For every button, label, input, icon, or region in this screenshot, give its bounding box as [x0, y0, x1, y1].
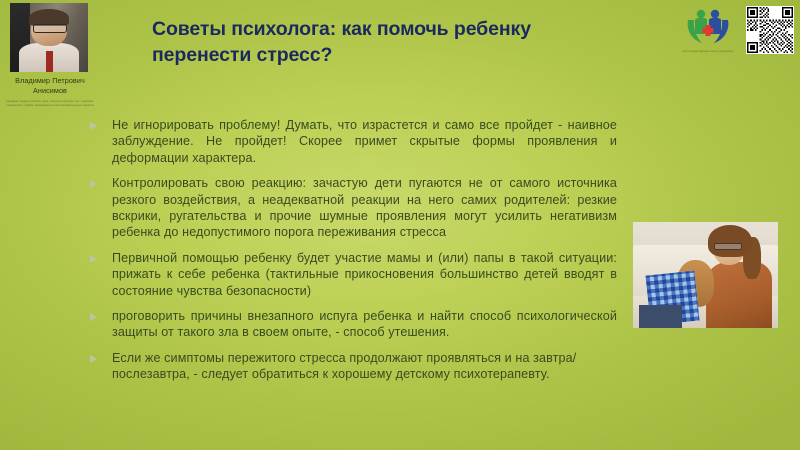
- triangle-bullet-icon: [90, 255, 97, 263]
- bullet-text: Не игнорировать проблему! Думать, что из…: [112, 117, 617, 166]
- mother-hugging-child-photo: [633, 222, 778, 328]
- logo-caption: Центр охраны здоровья семьи и репродукци…: [678, 50, 738, 53]
- photo-woman-glasses: [714, 243, 742, 250]
- list-item: Первичной помощью ребенку будет участие …: [90, 250, 617, 299]
- presenter-name: Владимир Петрович Анисимов: [0, 76, 100, 95]
- bullet-list: Не игнорировать проблему! Думать, что из…: [90, 117, 617, 392]
- list-item: Контролировать свою реакцию: зачастую де…: [90, 175, 617, 241]
- photo-woman-cardigan: [706, 262, 773, 328]
- triangle-bullet-icon: [90, 313, 97, 321]
- bullet-text: Контролировать свою реакцию: зачастую де…: [112, 175, 617, 241]
- organization-logo: Центр охраны здоровья семьи и репродукци…: [678, 4, 738, 66]
- list-item: проговорить причины внезапного испуга ре…: [90, 308, 617, 341]
- photo-glasses: [33, 24, 66, 33]
- bullet-text: Если же симптомы пережитого стресса прод…: [112, 350, 617, 383]
- photo-jeans: [639, 305, 683, 328]
- bullet-text: проговорить причины внезапного испуга ре…: [112, 308, 617, 341]
- hands-family-health-icon: [684, 6, 732, 46]
- qr-code-image: [747, 7, 793, 53]
- qr-code[interactable]: [746, 6, 794, 54]
- presenter-credentials: кандидат педагогических наук, психолог-э…: [6, 99, 94, 107]
- triangle-bullet-icon: [90, 355, 97, 363]
- list-item: Если же симптомы пережитого стресса прод…: [90, 350, 617, 383]
- slide-title: Советы психолога: как помочь ребенку пер…: [152, 16, 622, 68]
- photo-woman-hair: [708, 225, 752, 257]
- slide: Владимир Петрович Анисимов кандидат педа…: [0, 0, 800, 450]
- bullet-text: Первичной помощью ребенку будет участие …: [112, 250, 617, 299]
- list-item: Не игнорировать проблему! Думать, что из…: [90, 117, 617, 166]
- presenter-photo: [10, 3, 88, 72]
- triangle-bullet-icon: [90, 180, 97, 188]
- triangle-bullet-icon: [90, 122, 97, 130]
- photo-tie: [46, 51, 53, 72]
